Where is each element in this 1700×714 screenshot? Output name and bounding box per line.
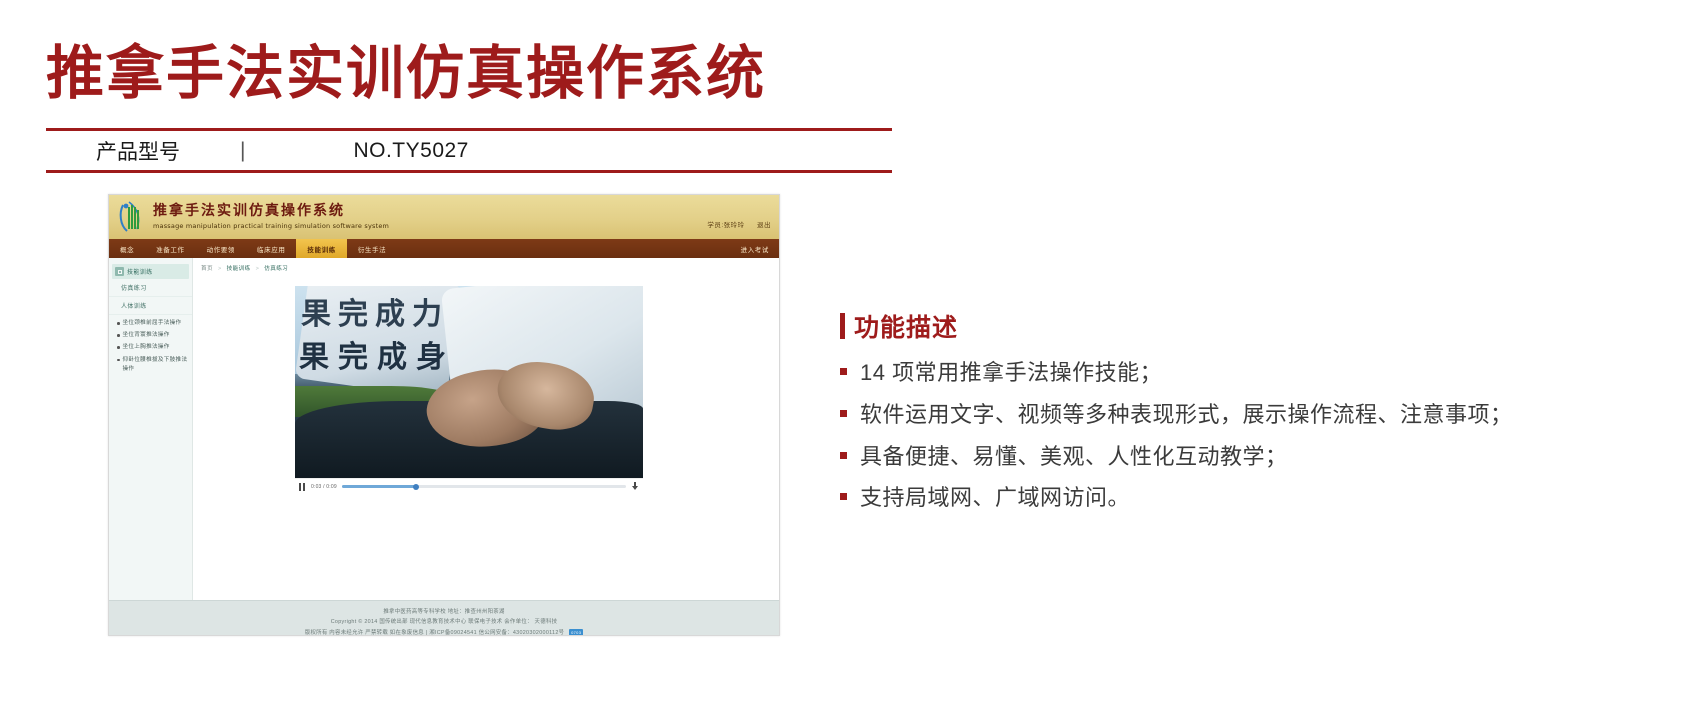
- feature-text: 具备便捷、易懂、美观、人性化互动教学；: [860, 438, 1540, 476]
- breadcrumb-separator: >: [218, 266, 222, 272]
- list-item: 具备便捷、易懂、美观、人性化互动教学；: [840, 438, 1540, 476]
- main-content: 首页 > 技能训练 > 仿真练习 果完成力 果完成身: [193, 258, 779, 600]
- app-body: 技能训练 仿真练习 人体训练 坐位颈椎前屈手法操作 坐位背寰推法操作 坐位上胸推…: [109, 258, 779, 600]
- square-bullet-icon: [840, 452, 847, 459]
- bullet-icon: [117, 359, 120, 362]
- list-item: 14 项常用推拿手法操作技能；: [840, 354, 1540, 392]
- breadcrumb: 首页 > 技能训练 > 仿真练习: [193, 258, 779, 272]
- user-area: 学员:张玲玲 退出: [697, 219, 771, 229]
- footer-line-1: 推拿中医药高等专科学校 地址：推查州州阳茶湖: [109, 607, 779, 617]
- model-value: NO.TY5027: [353, 139, 468, 163]
- feature-description-panel: 功能描述 14 项常用推拿手法操作技能； 软件运用文字、视频等多种表现形式，展示…: [840, 308, 1540, 521]
- heading-accent-bar: [840, 313, 845, 339]
- sidebar-sub-label: 坐位颈椎前屈手法操作: [123, 319, 182, 328]
- app-logo-icon: [117, 199, 151, 235]
- sidebar: 技能训练 仿真练习 人体训练 坐位颈椎前屈手法操作 坐位背寰推法操作 坐位上胸推…: [109, 258, 193, 600]
- nav-item-concept[interactable]: 概念: [109, 239, 145, 258]
- breadcrumb-level2: 仿真练习: [264, 266, 288, 272]
- list-item: 软件运用文字、视频等多种表现形式，展示操作流程、注意事项；: [840, 396, 1540, 434]
- app-name-en: massage manipulation practical training …: [153, 222, 389, 230]
- breadcrumb-home[interactable]: 首页: [201, 266, 213, 272]
- model-row: 产品型号 | NO.TY5027: [46, 132, 892, 170]
- app-title-block: 推拿手法实训仿真操作系统 massage manipulation practi…: [153, 200, 389, 230]
- video-progress-bar[interactable]: [342, 485, 626, 488]
- sidebar-sub-label: 坐位背寰推法操作: [123, 331, 170, 340]
- sidebar-header[interactable]: 技能训练: [112, 264, 189, 279]
- page-title: 推拿手法实训仿真操作系统: [46, 26, 766, 110]
- footer-legal: 版权所有 内容未经允许 严禁转载 如在象废信息 | 湘ICP备09024541 …: [305, 630, 565, 636]
- description-heading: 功能描述: [840, 308, 1540, 344]
- video-progress-fill: [342, 485, 416, 488]
- user-label: 学员:张玲玲: [707, 222, 744, 229]
- app-nav: 概念 准备工作 动作要领 临床应用 技能训练 衍生手法 进入考试: [109, 239, 779, 258]
- video-time-display: 0:03 / 0:09: [311, 484, 337, 490]
- bullet-icon: [117, 334, 120, 337]
- video-controls: 0:03 / 0:09: [295, 478, 643, 494]
- model-separator: |: [240, 139, 245, 163]
- square-bullet-icon: [840, 493, 847, 500]
- divider-top: [46, 128, 892, 131]
- bullet-icon: [117, 346, 120, 349]
- nav-item-preparation[interactable]: 准备工作: [145, 239, 195, 258]
- list-item: 支持局域网、广域网访问。: [840, 479, 1540, 517]
- footer-tag: 0703: [569, 629, 583, 636]
- sidebar-sub-label: 坐位上胸推法操作: [123, 343, 170, 352]
- nav-item-clinical[interactable]: 临床应用: [246, 239, 296, 258]
- folder-icon: [115, 267, 124, 276]
- divider-bottom: [46, 170, 892, 173]
- breadcrumb-separator: >: [256, 266, 260, 272]
- enter-exam-button[interactable]: 进入考试: [731, 239, 779, 258]
- app-header: 推拿手法实训仿真操作系统 massage manipulation practi…: [109, 195, 779, 239]
- nav-item-key-points[interactable]: 动作要领: [196, 239, 246, 258]
- bullet-icon: [117, 322, 120, 325]
- sidebar-item-human-training[interactable]: 人体训练: [109, 297, 192, 315]
- sidebar-sub-label: 仰卧位腰椎拔及下肢推法操作: [123, 356, 189, 374]
- feature-text: 软件运用文字、视频等多种表现形式，展示操作流程、注意事项；: [860, 396, 1540, 434]
- app-footer: 推拿中医药高等专科学校 地址：推查州州阳茶湖 Copyright © 2014 …: [109, 600, 779, 636]
- list-item[interactable]: 仰卧位腰椎拔及下肢推法操作: [117, 356, 188, 374]
- video-overlay-line1: 果完成力: [301, 289, 449, 333]
- application-screenshot: 推拿手法实训仿真操作系统 massage manipulation practi…: [108, 194, 780, 636]
- list-item[interactable]: 坐位颈椎前屈手法操作: [117, 319, 188, 328]
- download-icon[interactable]: [631, 482, 639, 491]
- list-item[interactable]: 坐位上胸推法操作: [117, 343, 188, 352]
- video-frame: 果完成力 果完成身: [295, 286, 643, 478]
- footer-line-2: Copyright © 2014 国传统出部 现代信息教育技术中心 联保电子技术…: [109, 617, 779, 627]
- model-label: 产品型号: [96, 136, 180, 166]
- square-bullet-icon: [840, 410, 847, 417]
- sidebar-item-simulation-practice[interactable]: 仿真练习: [109, 279, 192, 297]
- nav-item-derived[interactable]: 衍生手法: [347, 239, 397, 258]
- sidebar-header-label: 技能训练: [127, 267, 153, 276]
- video-progress-knob[interactable]: [413, 484, 419, 490]
- footer-line-3: 版权所有 内容未经允许 严禁转载 如在象废信息 | 湘ICP备09024541 …: [109, 628, 779, 636]
- sidebar-sublist: 坐位颈椎前屈手法操作 坐位背寰推法操作 坐位上胸推法操作 仰卧位腰椎拔及下肢推法…: [109, 315, 192, 381]
- square-bullet-icon: [840, 368, 847, 375]
- feature-text: 支持局域网、广域网访问。: [860, 479, 1540, 517]
- pause-icon[interactable]: [299, 483, 306, 491]
- nav-item-skill-training[interactable]: 技能训练: [296, 239, 346, 258]
- app-name-cn: 推拿手法实训仿真操作系统: [153, 200, 389, 220]
- breadcrumb-level1[interactable]: 技能训练: [227, 266, 251, 272]
- footer-copyright: Copyright © 2014 国传统出部 现代信息教育技术中心 联保电子技术…: [331, 619, 533, 625]
- video-player[interactable]: 果完成力 果完成身: [295, 286, 643, 478]
- feature-list: 14 项常用推拿手法操作技能； 软件运用文字、视频等多种表现形式，展示操作流程、…: [840, 354, 1540, 517]
- logout-link[interactable]: 退出: [757, 222, 771, 229]
- video-overlay-line2: 果完成身: [299, 332, 455, 376]
- list-item[interactable]: 坐位背寰推法操作: [117, 331, 188, 340]
- feature-text: 14 项常用推拿手法操作技能；: [860, 354, 1540, 392]
- footer-partner[interactable]: 天德科技: [535, 619, 558, 625]
- description-heading-label: 功能描述: [854, 308, 958, 344]
